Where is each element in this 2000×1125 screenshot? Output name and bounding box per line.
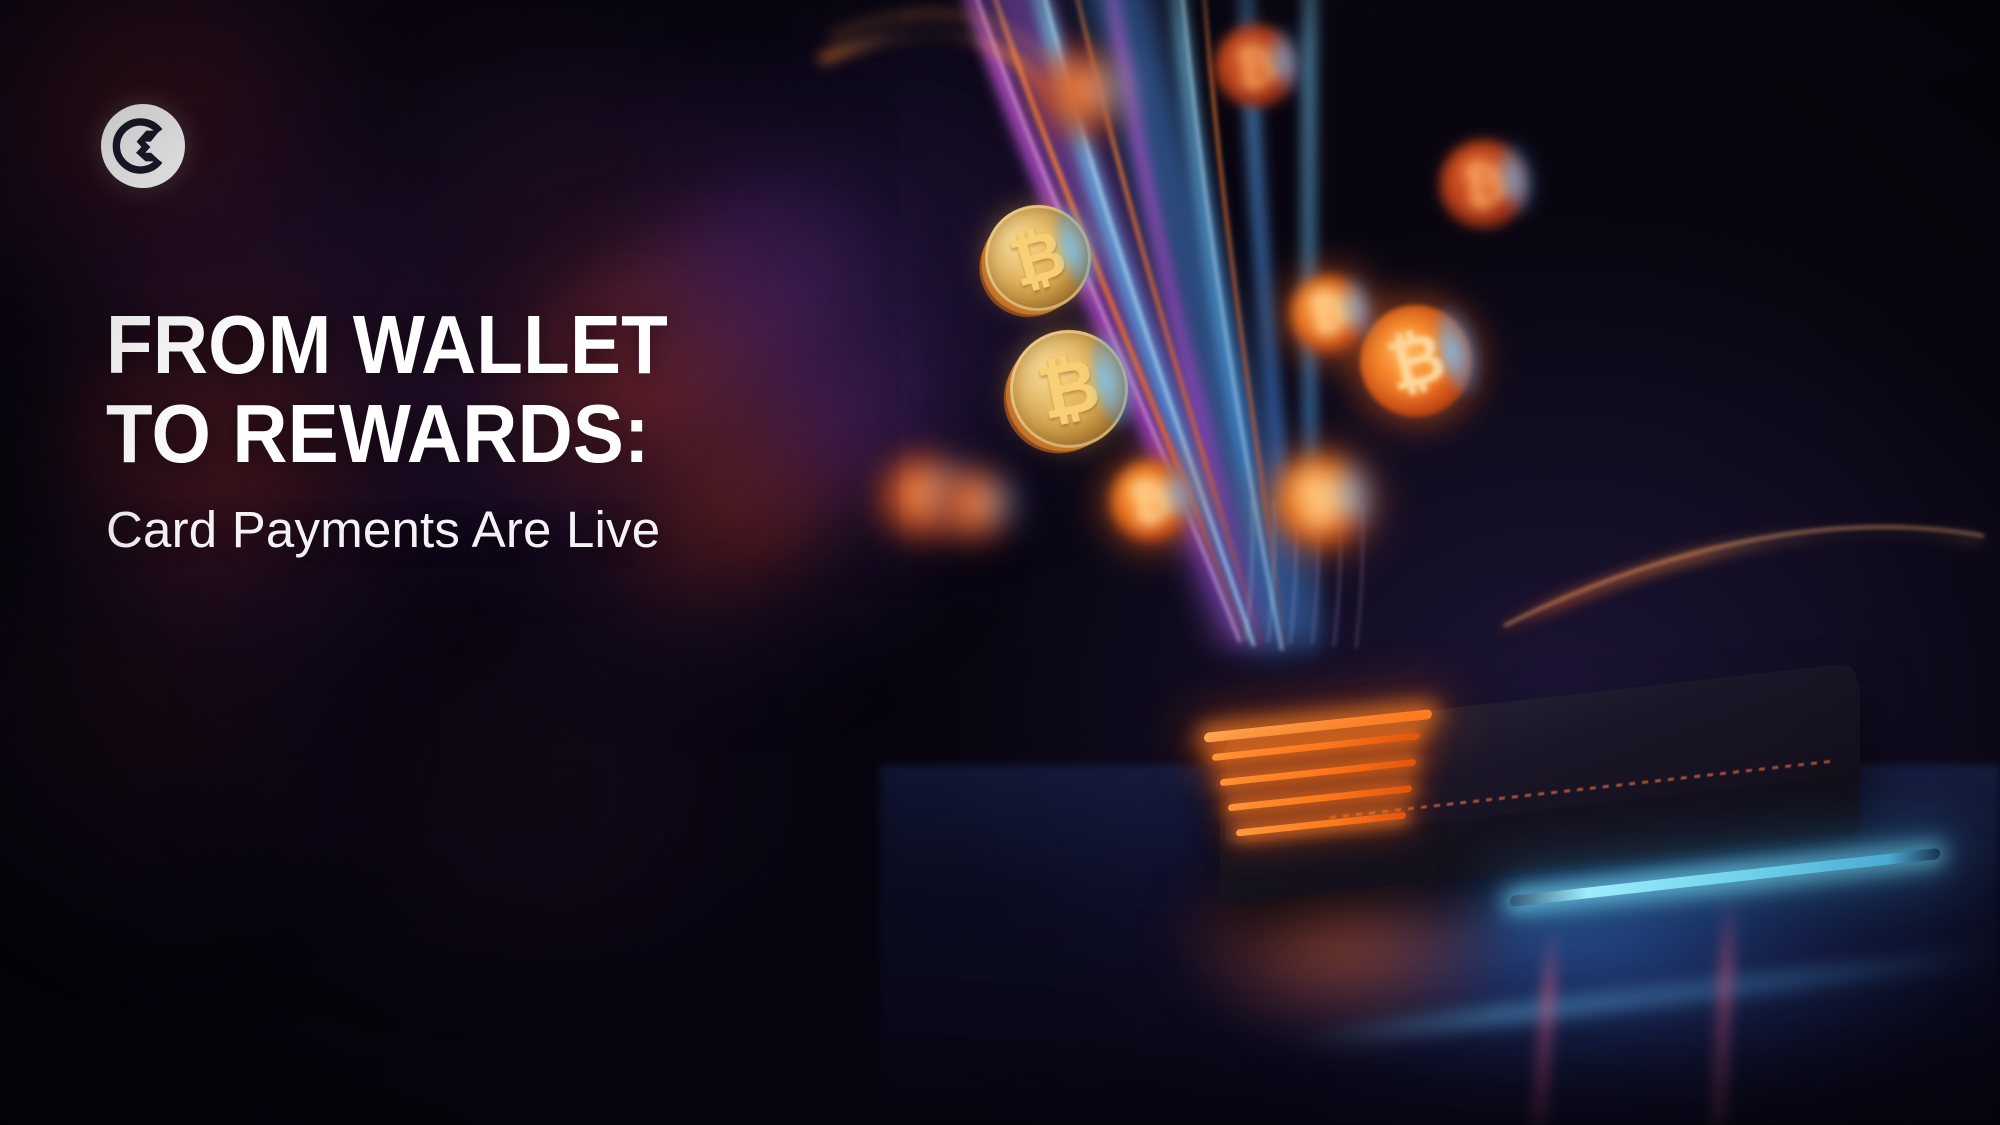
bitcoin-symbol: ₿ — [955, 481, 996, 528]
bitcoin-symbol: ₿ — [1125, 472, 1176, 531]
wallet-card-slots — [1212, 722, 1442, 872]
wallet-card-slot — [1228, 785, 1412, 811]
bitcoin-symbol: ₿ — [1293, 469, 1349, 533]
headline-line-2: TO REWARDS: — [106, 389, 805, 478]
page-subtitle: Card Payments Are Live — [106, 500, 660, 560]
leather-wallet — [1180, 680, 1900, 950]
brand-logo[interactable] — [101, 104, 185, 188]
promo-banner: ₿₿₿₿₿₿₿₿₿₿₿ — [0, 0, 2000, 1125]
page-title: FROM WALLET TO REWARDS: — [106, 300, 805, 478]
banner-content: FROM WALLET TO REWARDS: Card Payments Ar… — [0, 0, 900, 1125]
bitcoin-symbol: ₿ — [1380, 321, 1451, 402]
bitcoin-symbol: ₿ — [1032, 347, 1105, 431]
bitcoin-symbol: ₿ — [1058, 64, 1108, 122]
bitcoin-symbol: ₿ — [897, 468, 946, 525]
circular-chevron-logo-icon — [112, 115, 174, 177]
bitcoin-symbol: ₿ — [1457, 153, 1511, 215]
bitcoin-symbol: ₿ — [1003, 219, 1073, 297]
headline-line-1: FROM WALLET — [106, 300, 805, 389]
bitcoin-symbol: ₿ — [1305, 286, 1353, 341]
bitcoin-symbol: ₿ — [1231, 37, 1281, 94]
wallet-card-slot — [1236, 812, 1406, 837]
wallet-card-slot — [1220, 759, 1416, 787]
